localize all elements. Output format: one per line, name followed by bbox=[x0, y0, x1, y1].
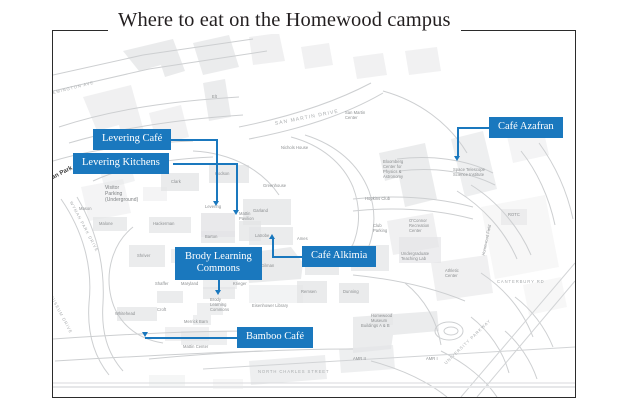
infographic-frame bbox=[52, 30, 576, 398]
page-title: Where to eat on the Homewood campus bbox=[118, 9, 451, 31]
infographic-page: REMINGTON AVE WYMAN PARK DRIVE ART MUSEU… bbox=[0, 0, 630, 420]
page-title-wrap: Where to eat on the Homewood campus bbox=[108, 6, 461, 34]
